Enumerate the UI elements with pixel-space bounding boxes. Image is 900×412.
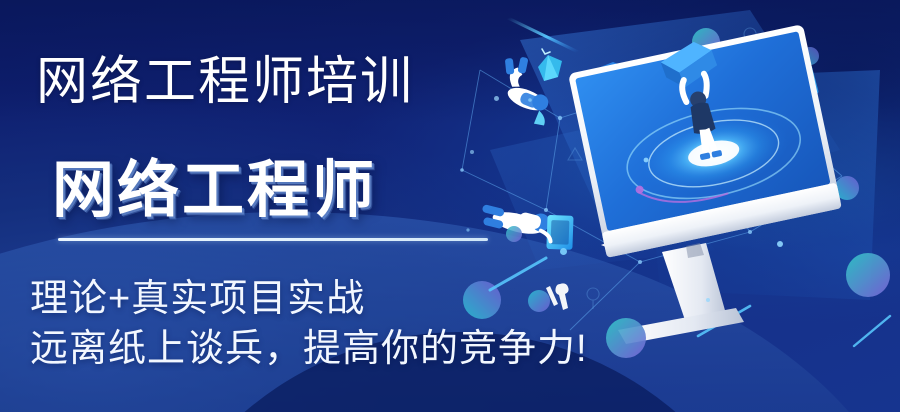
promo-banner: 网络工程师培训 网络工程师 理论+真实项目实战 远离纸上谈兵，提高你的竞争力! (0, 0, 900, 412)
tagline-line-1: 理论+真实项目实战 (30, 280, 365, 318)
tagline-line-2: 远离纸上谈兵，提高你的竞争力! (30, 330, 588, 368)
page-title: 网络工程师 (52, 160, 377, 222)
foreground-dot-icon (560, 248, 567, 255)
page-subtitle: 网络工程师培训 (36, 56, 414, 108)
gradient-sphere-icon (606, 318, 646, 358)
headline-group: 网络工程师培训 网络工程师 理论+真实项目实战 远离纸上谈兵，提高你的竞争力! (0, 0, 560, 412)
title-divider (58, 238, 488, 241)
